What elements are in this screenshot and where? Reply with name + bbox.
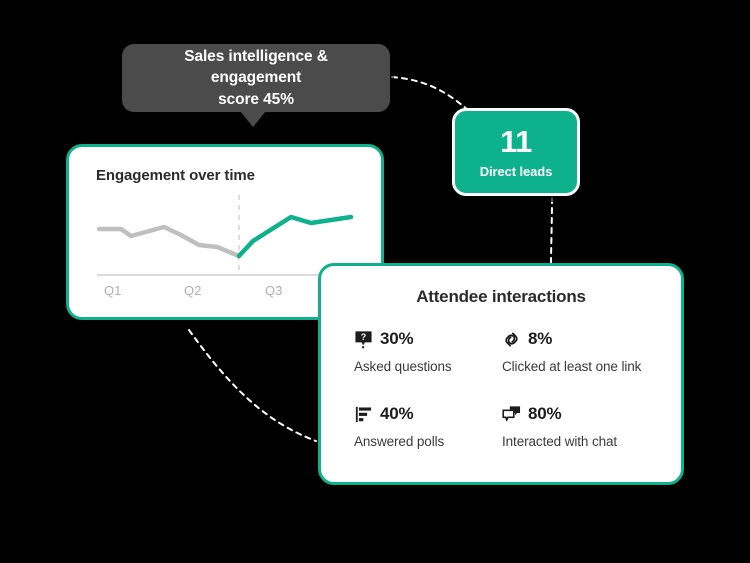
metric-value: 40%: [380, 404, 413, 424]
direct-leads-badge: 11 Direct leads: [452, 108, 580, 196]
metric-label: Interacted with chat: [502, 434, 654, 449]
connector-leads-to-interactions: [551, 198, 552, 266]
metric-value: 80%: [528, 404, 561, 424]
chart-title: Engagement over time: [96, 167, 255, 184]
sales-intelligence-tooltip: Sales intelligence & engagement score 45…: [122, 44, 390, 112]
x-tick-q2: Q2: [184, 283, 201, 298]
metric-label: Answered polls: [354, 434, 502, 449]
metric-head: 8%: [502, 327, 654, 351]
tooltip-pointer: [240, 111, 266, 127]
connector-tooltip-to-leads: [392, 77, 468, 110]
x-tick-q3: Q3: [265, 283, 282, 298]
x-tick-q1: Q1: [104, 283, 121, 298]
infographic-stage: Sales intelligence & engagement score 45…: [0, 0, 750, 563]
direct-leads-value: 11: [500, 126, 532, 157]
poll-bars-icon: [354, 405, 373, 424]
interactions-metrics-grid: ? 30% Asked questions 8%: [354, 327, 654, 477]
interactions-title: Attendee interactions: [321, 287, 681, 307]
chat-bubbles-icon: [502, 405, 521, 424]
svg-text:?: ?: [361, 331, 367, 341]
link-icon: [502, 330, 521, 349]
metric-head: ? 30%: [354, 327, 502, 351]
metric-asked-questions: ? 30% Asked questions: [354, 327, 502, 402]
tooltip-line-1: Sales intelligence & engagement: [184, 48, 328, 86]
connector-chart-to-interactions: [189, 330, 316, 441]
tooltip-line-2: score 45%: [218, 91, 294, 108]
metric-interacted-chat: 80% Interacted with chat: [502, 402, 654, 477]
metric-label: Clicked at least one link: [502, 359, 654, 374]
question-bubble-icon: ?: [354, 330, 373, 349]
metric-answered-polls: 40% Answered polls: [354, 402, 502, 477]
metric-head: 80%: [502, 402, 654, 426]
metric-value: 30%: [380, 329, 413, 349]
metric-label: Asked questions: [354, 359, 502, 374]
series-past-engagement: [99, 227, 239, 256]
metric-clicked-link: 8% Clicked at least one link: [502, 327, 654, 402]
direct-leads-label: Direct leads: [480, 164, 553, 179]
series-projected-engagement: [239, 217, 351, 256]
tooltip-text: Sales intelligence & engagement score 45…: [122, 46, 390, 110]
metric-head: 40%: [354, 402, 502, 426]
metric-value: 8%: [528, 329, 552, 349]
attendee-interactions-card: Attendee interactions ? 30% Asked questi…: [318, 263, 684, 485]
